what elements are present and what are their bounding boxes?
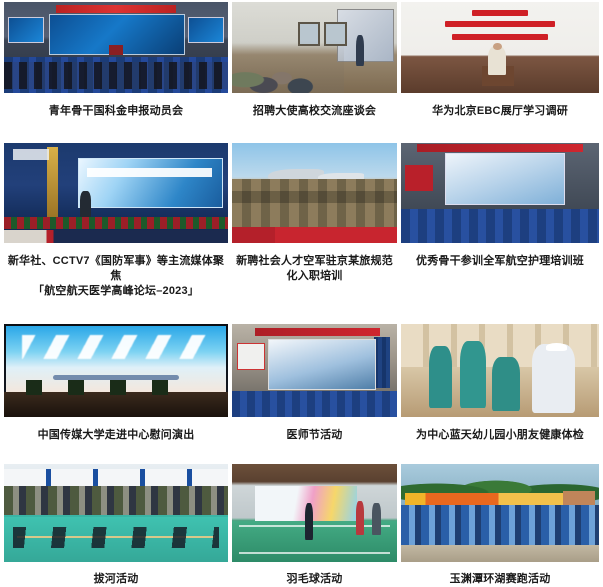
court-lines [239, 525, 391, 554]
bystander-figure-2 [372, 503, 380, 534]
gallery-row: 拔河活动 羽毛球活动 玉渊潭环湖赛跑活动 [4, 464, 599, 587]
stage-floor [4, 392, 228, 417]
gallery-item-caption: 青年骨干国科金申报动员会 [47, 104, 185, 119]
gallery-item-1[interactable]: 青年骨干国科金申报动员会 [4, 2, 228, 119]
stage-screen [445, 153, 566, 205]
medical-staff-figure [532, 344, 576, 413]
musicians-row [26, 380, 183, 395]
welcome-text-line-1 [472, 10, 527, 15]
gallery-item-8[interactable]: 医师节活动 [232, 324, 397, 443]
plaza-ground [401, 545, 599, 562]
gallery-item-9[interactable]: 为中心蓝天幼儿园小朋友健康体检 [401, 324, 599, 443]
gallery-item-3[interactable]: 华为北京EBC展厅学习调研 [401, 2, 599, 119]
gallery-item-caption: 医师节活动 [285, 428, 345, 443]
audience-crowd [4, 62, 228, 89]
stage-flowers [4, 217, 228, 229]
side-screen-left [8, 17, 44, 43]
gallery-item-2[interactable]: 招聘大使高校交流座谈会 [232, 2, 397, 119]
stage-screen [268, 339, 376, 390]
child-figure-2 [460, 341, 486, 408]
bystander-figure-1 [356, 501, 364, 534]
side-screen-right [188, 17, 224, 43]
news-ticker-bar [4, 230, 228, 243]
child-figure-1 [429, 346, 453, 407]
gallery-item-11[interactable]: 羽毛球活动 [232, 464, 397, 587]
player-figure [305, 503, 313, 540]
air-force-brigade-onboarding-training-photo[interactable] [232, 143, 397, 243]
gallery-item-7[interactable]: 中国传媒大学走进中心慰问演出 [4, 324, 228, 443]
audience-seats [232, 391, 397, 417]
podium [109, 45, 122, 55]
cuc-tribute-performance-photo[interactable] [4, 324, 228, 417]
badminton-event-photo[interactable] [232, 464, 397, 562]
auditorium-kickoff-meeting-photo[interactable] [4, 2, 228, 93]
ceremony-banner [417, 144, 583, 152]
soldier-helmets [232, 191, 397, 203]
cctv7-channel-logo [13, 149, 49, 160]
gallery-row: 青年骨干国科金申报动员会 招聘大使高校交流座谈会 [4, 2, 599, 119]
gallery-item-6[interactable]: 优秀骨干参训全军航空护理培训班 [401, 143, 599, 269]
gym-wall-banners [4, 469, 228, 487]
welcome-text-line-2 [445, 21, 556, 27]
side-poster [237, 343, 265, 370]
gallery-item-caption: 羽毛球活动 [285, 572, 345, 587]
gallery-item-caption: 拔河活动 [92, 572, 141, 587]
classroom-recruitment-symposium-photo[interactable] [232, 2, 397, 93]
gallery-item-caption: 新华社、CCTV7《国防军事》等主流媒体聚焦 「航空航天医学高峰论坛–2023」 [4, 254, 228, 299]
aviation-nursing-training-class-photo[interactable] [401, 143, 599, 243]
forum-led-screen [78, 158, 223, 208]
gallery-item-5[interactable]: 新聘社会人才空军驻京某旅规范 化入职培训 [232, 143, 397, 284]
gallery-item-4[interactable]: 新华社、CCTV7《国防军事》等主流媒体聚焦 「航空航天医学高峰论坛–2023」 [4, 143, 228, 299]
soldier-formation [232, 179, 397, 231]
left-red-panel [405, 165, 433, 191]
speaker-figure [80, 191, 91, 217]
gallery-item-caption: 为中心蓝天幼儿园小朋友健康体检 [414, 428, 586, 443]
yuyuantan-lake-run-event-photo[interactable] [401, 464, 599, 562]
gallery-row: 中国传媒大学走进中心慰问演出 医师节活动 [4, 324, 599, 443]
celebration-banner [255, 328, 380, 336]
stage-curtain [374, 337, 391, 388]
gallery-item-caption: 招聘大使高校交流座谈会 [251, 104, 378, 119]
speaker-figure [488, 46, 506, 75]
photo-gallery: 青年骨干国科金申报动员会 招聘大使高校交流座谈会 [0, 0, 603, 559]
audience-seats [401, 209, 599, 243]
tug-of-war-event-photo[interactable] [4, 464, 228, 562]
gallery-item-caption: 华为北京EBC展厅学习调研 [430, 104, 570, 119]
group-photo-crowd [401, 505, 599, 546]
stage-top-banner [56, 5, 177, 13]
nurse-cap [546, 343, 568, 351]
competitors-pulling [13, 527, 219, 549]
cctv7-aerospace-medicine-forum-photo[interactable] [4, 143, 228, 243]
huawei-ebc-lecture-photo[interactable] [401, 2, 599, 93]
gallery-item-10[interactable]: 拔河活动 [4, 464, 228, 587]
seated-students [232, 40, 344, 93]
gallery-item-caption: 中国传媒大学走进中心慰问演出 [36, 428, 197, 443]
gallery-item-caption: 玉渊潭环湖赛跑活动 [448, 572, 553, 587]
presenter-figure [356, 35, 364, 66]
red-caption-banner [232, 227, 397, 243]
gallery-row: 新华社、CCTV7《国防军事》等主流媒体聚焦 「航空航天医学高峰论坛–2023」… [4, 143, 599, 299]
gallery-item-caption: 优秀骨干参训全军航空护理培训班 [414, 254, 586, 269]
forum-title-bar [87, 168, 212, 177]
welcome-text-line-3 [452, 34, 547, 40]
spectator-crowd [4, 486, 228, 515]
doctors-day-event-photo[interactable] [232, 324, 397, 417]
gallery-item-12[interactable]: 玉渊潭环湖赛跑活动 [401, 464, 599, 587]
calligraphy-title [22, 335, 210, 359]
child-figure-3 [492, 357, 520, 411]
gallery-item-caption: 新聘社会人才空军驻京某旅规范 化入职培训 [234, 254, 395, 284]
kindergarten-health-checkup-photo[interactable] [401, 324, 599, 417]
